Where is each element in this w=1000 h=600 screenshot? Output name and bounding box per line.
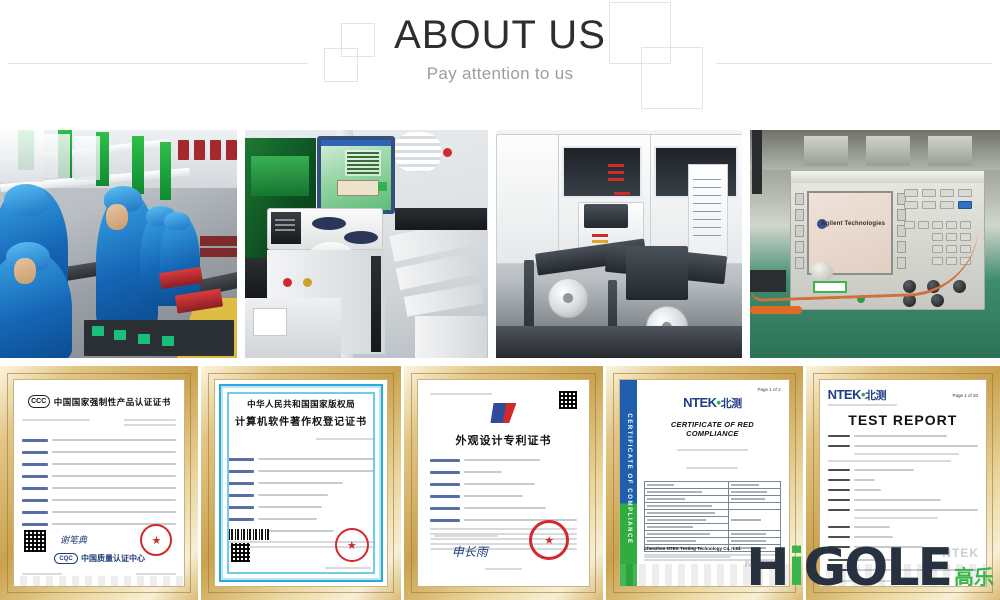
photo-test-equipment: Agilent Technologies <box>750 130 1000 358</box>
photo-assembly-line <box>0 130 237 358</box>
page-title: ABOUT US <box>0 10 1000 60</box>
cert-test-report-page: Page 1 of 20 <box>952 393 978 398</box>
clipboard-paper <box>688 164 728 260</box>
higole-part1: H <box>746 538 788 598</box>
photo-smt-machine <box>245 130 488 358</box>
cert-ccc-signature: 谢笔典 <box>60 533 87 546</box>
cert-ccc-footer-org: 中国质量认证中心 <box>81 553 145 564</box>
higole-part2: GOLE <box>803 538 951 598</box>
cert-test-report-title: TEST REPORT <box>828 412 978 428</box>
cert-compliance-title: CERTIFICATE OF RED COMPLIANCE <box>644 420 780 438</box>
cert-compliance-page: Page 1 of 2 <box>758 387 781 392</box>
photo-pick-and-place <box>496 130 742 358</box>
cert-compliance-sidebar-text: CERTIFICATE OF COMPLIANCE <box>626 413 632 544</box>
cert-ccc-seal <box>140 524 172 556</box>
cert-patent-title: 外观设计专利证书 <box>430 432 577 448</box>
cqc-mark: CQC <box>54 553 78 564</box>
cert-compliance-sidebar: CERTIFICATE OF COMPLIANCE <box>620 380 637 586</box>
higole-brand-logo: HiGOLE 高乐 <box>746 542 994 594</box>
page-header: ABOUT US Pay attention to us <box>0 0 1000 128</box>
ntek-logo-icon: NTEK•北测 <box>683 395 741 410</box>
ntek-brand-cn: 北测 <box>721 397 742 410</box>
cert-copyright-ornament <box>219 384 382 582</box>
facility-photo-strip: Agilent Technologies <box>0 130 1000 358</box>
cert-patent-qr-icon <box>559 391 577 409</box>
ntek-logo-icon-2: NTEK•北测 <box>828 387 886 403</box>
page-subtitle: Pay attention to us <box>0 62 1000 86</box>
higole-wordmark: HiGOLE <box>746 542 951 594</box>
higole-part-i: i <box>788 538 804 598</box>
ntek-brand-2: NTEK <box>828 387 861 402</box>
cert-patent-seal <box>529 520 569 560</box>
cert-ccc-frame[interactable]: CCC 中国国家强制性产品认证证书 <box>0 366 198 600</box>
cert-ccc-title: 中国国家强制性产品认证证书 <box>54 396 171 408</box>
higole-chinese: 高乐 <box>954 567 994 587</box>
ntek-brand: NTEK <box>683 395 716 410</box>
cert-software-copyright-frame[interactable]: 中华人民共和国国家版权局 计算机软件著作权登记证书 <box>201 366 400 600</box>
about-us-page: ABOUT US Pay attention to us <box>0 0 1000 600</box>
cnipa-logo-icon <box>490 403 516 423</box>
smt-monitor <box>317 136 395 214</box>
ccc-badge: CCC <box>28 395 50 408</box>
ntek-brand-cn-2: 北测 <box>865 389 886 402</box>
cert-design-patent-frame[interactable]: 外观设计专利证书 申长雨 <box>404 366 603 600</box>
cert-patent-signature: 申长雨 <box>452 543 488 560</box>
cert-ccc-qr-icon <box>24 530 46 552</box>
header-text-block: ABOUT US Pay attention to us <box>0 10 1000 86</box>
